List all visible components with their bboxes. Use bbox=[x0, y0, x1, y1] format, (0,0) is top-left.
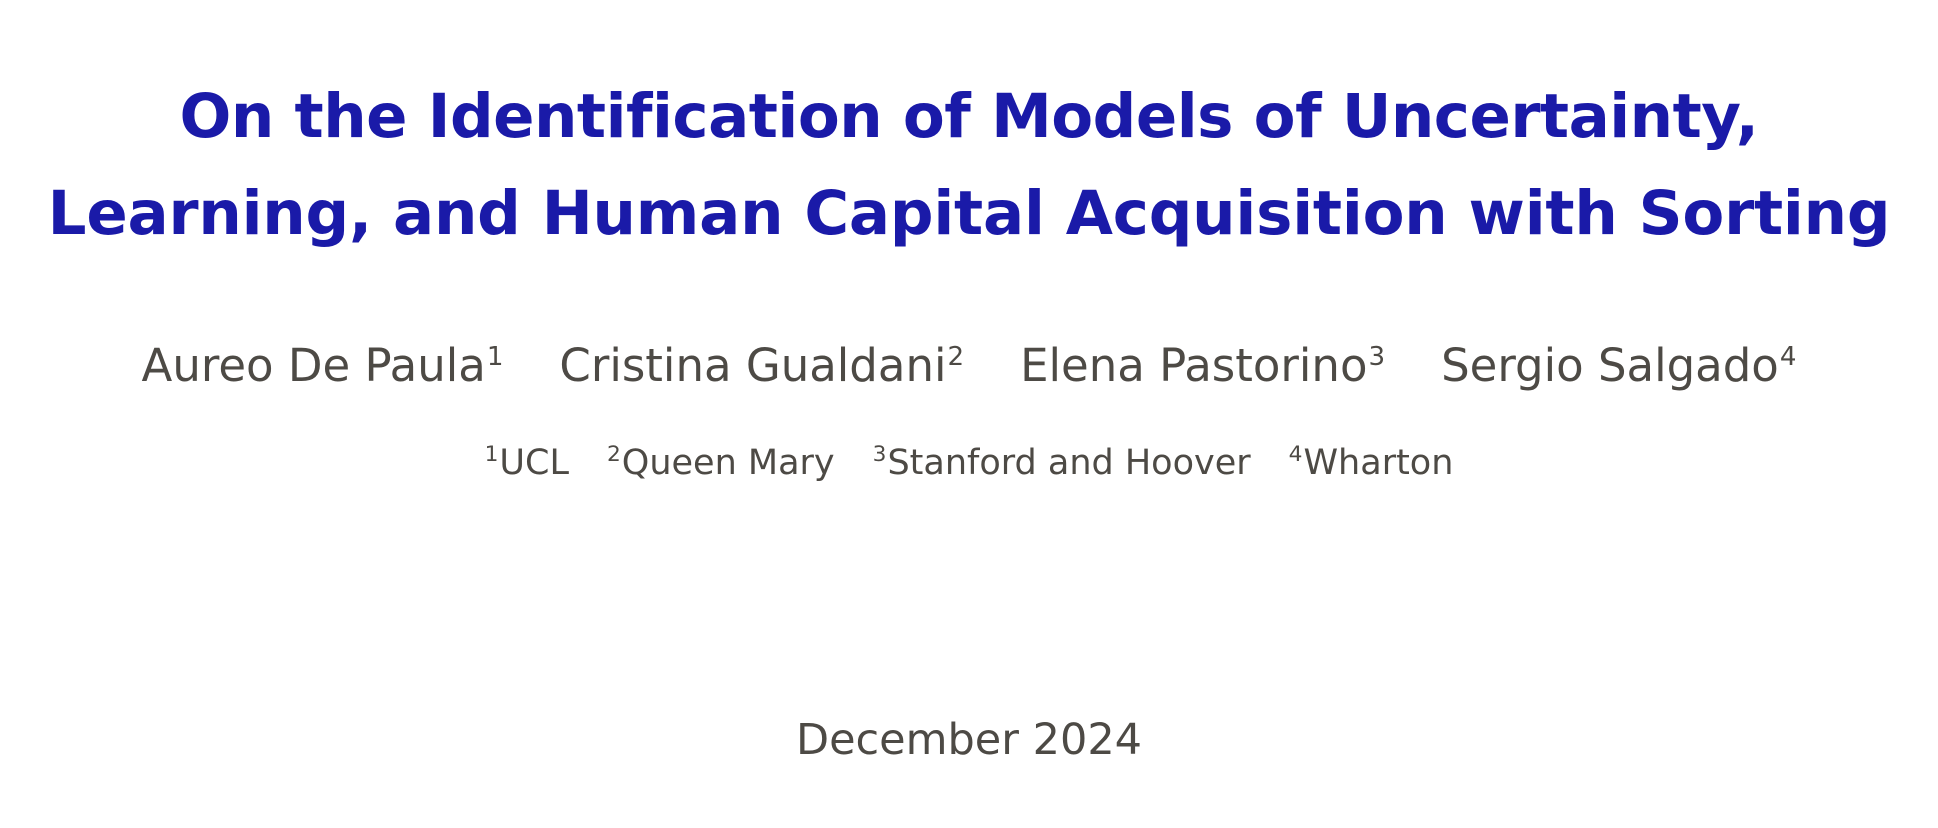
affiliation-3-name: Stanford and Hoover bbox=[887, 443, 1250, 483]
author-4-affiliation-marker: 4 bbox=[1780, 342, 1797, 372]
author-list: Aureo De Paula1Cristina Gualdani2Elena P… bbox=[0, 337, 1938, 395]
affiliation-4-marker: 4 bbox=[1289, 442, 1303, 467]
author-2-name: Cristina Gualdani bbox=[559, 339, 946, 392]
title-line-1: On the Identification of Models of Uncer… bbox=[0, 68, 1938, 165]
affiliation-1-name: UCL bbox=[499, 443, 569, 483]
affiliation-4: 4Wharton bbox=[1289, 440, 1454, 486]
author-2-affiliation-marker: 2 bbox=[947, 342, 964, 372]
affiliation-1-marker: 1 bbox=[485, 442, 499, 467]
author-1-affiliation-marker: 1 bbox=[487, 342, 504, 372]
author-1: Aureo De Paula1 bbox=[142, 337, 504, 395]
author-4: Sergio Salgado4 bbox=[1441, 337, 1796, 395]
presentation-title-slide: On the Identification of Models of Uncer… bbox=[0, 0, 1938, 828]
affiliation-2: 2Queen Mary bbox=[607, 440, 835, 486]
author-3-affiliation-marker: 3 bbox=[1368, 342, 1385, 372]
affiliation-list: 1UCL2Queen Mary3Stanford and Hoover4Whar… bbox=[0, 440, 1938, 486]
author-3: Elena Pastorino3 bbox=[1020, 337, 1385, 395]
affiliation-3: 3Stanford and Hoover bbox=[873, 440, 1251, 486]
affiliation-3-marker: 3 bbox=[873, 442, 887, 467]
slide-title: On the Identification of Models of Uncer… bbox=[0, 68, 1938, 262]
affiliation-4-name: Wharton bbox=[1303, 443, 1453, 483]
author-3-name: Elena Pastorino bbox=[1020, 339, 1367, 392]
title-line-2: Learning, and Human Capital Acquisition … bbox=[0, 165, 1938, 262]
slide-date: December 2024 bbox=[0, 713, 1938, 767]
author-2: Cristina Gualdani2 bbox=[559, 337, 964, 395]
author-1-name: Aureo De Paula bbox=[142, 339, 486, 392]
affiliation-2-marker: 2 bbox=[607, 442, 621, 467]
affiliation-2-name: Queen Mary bbox=[622, 443, 835, 483]
author-4-name: Sergio Salgado bbox=[1441, 339, 1779, 392]
affiliation-1: 1UCL bbox=[485, 440, 569, 486]
